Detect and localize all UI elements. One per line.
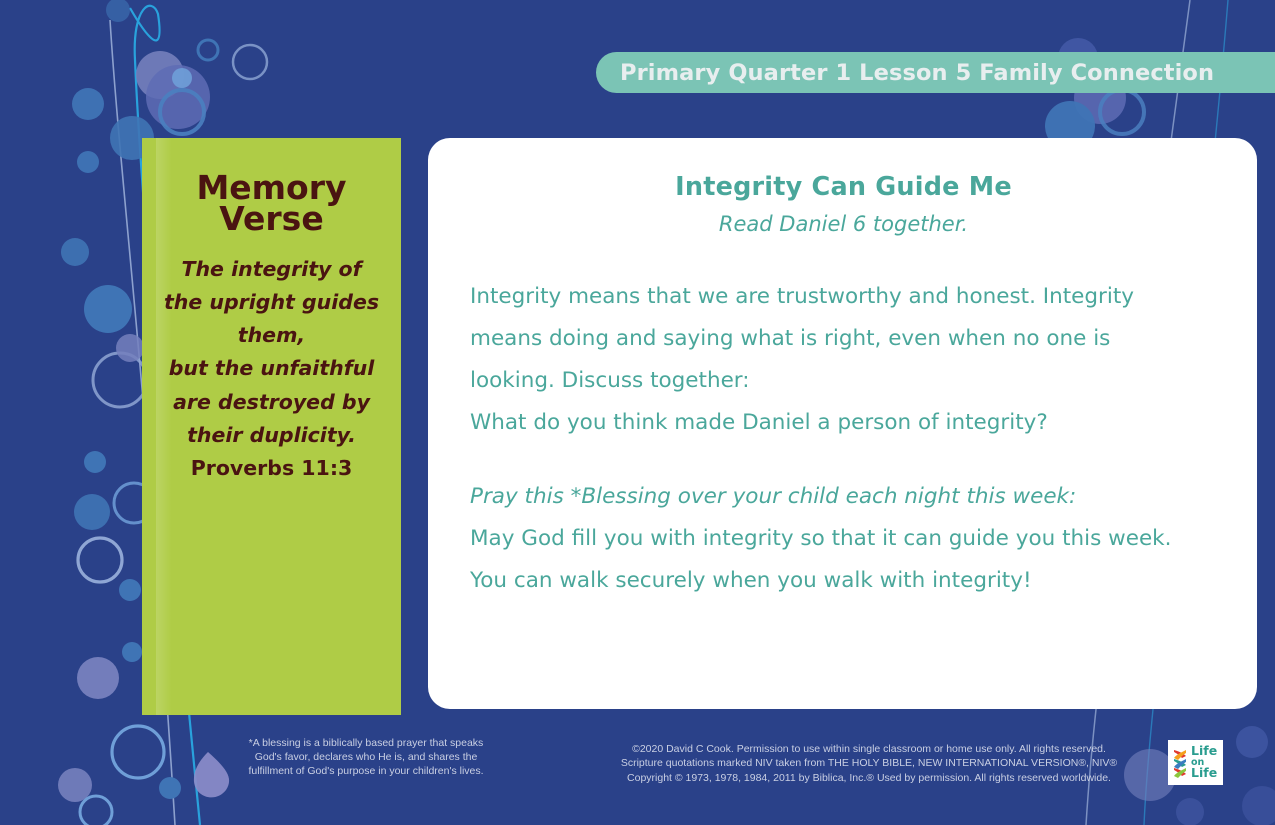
banner-title: Primary Quarter 1 Lesson 5 Family Connec…	[596, 60, 1214, 86]
blessing-prompt: Pray this *Blessing over your child each…	[470, 476, 1217, 518]
paragraph-spacer	[470, 444, 1217, 476]
page-title: Integrity Can Guide Me	[470, 172, 1217, 202]
memory-verse-heading: Memory Verse	[156, 172, 387, 235]
blessing-footnote-line: *A blessing is a biblically based prayer…	[225, 736, 507, 750]
blessing-footnote-line: God's favor, declares who He is, and sha…	[225, 750, 507, 764]
ribbon-icon	[1172, 747, 1188, 779]
paragraph-line: means doing and saying what is right, ev…	[470, 318, 1217, 360]
blessing-footnote: *A blessing is a biblically based prayer…	[225, 736, 507, 778]
paragraph-line: looking. Discuss together:	[470, 360, 1217, 402]
copyright-notice: ©2020 David C Cook. Permission to use wi…	[570, 742, 1168, 785]
logo-line-3: Life	[1191, 767, 1217, 780]
family-connection-page: Primary Quarter 1 Lesson 5 Family Connec…	[0, 0, 1275, 825]
logo-line-1: Life	[1191, 745, 1217, 758]
lesson-body: Integrity means that we are trustworthy …	[470, 276, 1217, 601]
copyright-line: Scripture quotations marked NIV taken fr…	[570, 756, 1168, 770]
discussion-question: What do you think made Daniel a person o…	[470, 402, 1217, 444]
copyright-line: ©2020 David C Cook. Permission to use wi…	[570, 742, 1168, 756]
memory-verse-panel: Memory Verse The integrity of the uprigh…	[142, 138, 401, 715]
memory-verse-reference: Proverbs 11:3	[156, 452, 387, 485]
verse-line: the upright guides	[156, 286, 387, 319]
copyright-line: Copyright © 1973, 1978, 1984, 2011 by Bi…	[570, 771, 1168, 785]
logo-wordmark: Life on Life	[1191, 745, 1217, 780]
verse-line: but the unfaithful	[156, 352, 387, 385]
verse-line: them,	[156, 319, 387, 352]
verse-line: their duplicity.	[156, 419, 387, 452]
blessing-footnote-line: fulfillment of God's purpose in your chi…	[225, 764, 507, 778]
reading-instruction: Read Daniel 6 together.	[470, 212, 1217, 236]
lesson-banner: Primary Quarter 1 Lesson 5 Family Connec…	[596, 52, 1275, 93]
verse-line: The integrity of	[156, 253, 387, 286]
blessing-line: May God fill you with integrity so that …	[470, 518, 1217, 560]
memory-verse-text: The integrity of the upright guides them…	[156, 253, 387, 485]
memory-verse-heading-line2: Verse	[156, 203, 387, 234]
verse-line: are destroyed by	[156, 386, 387, 419]
lesson-content-card: Integrity Can Guide Me Read Daniel 6 tog…	[428, 138, 1257, 709]
blessing-line: You can walk securely when you walk with…	[470, 560, 1217, 602]
paragraph-line: Integrity means that we are trustworthy …	[470, 276, 1217, 318]
life-on-life-logo: Life on Life	[1168, 740, 1223, 785]
